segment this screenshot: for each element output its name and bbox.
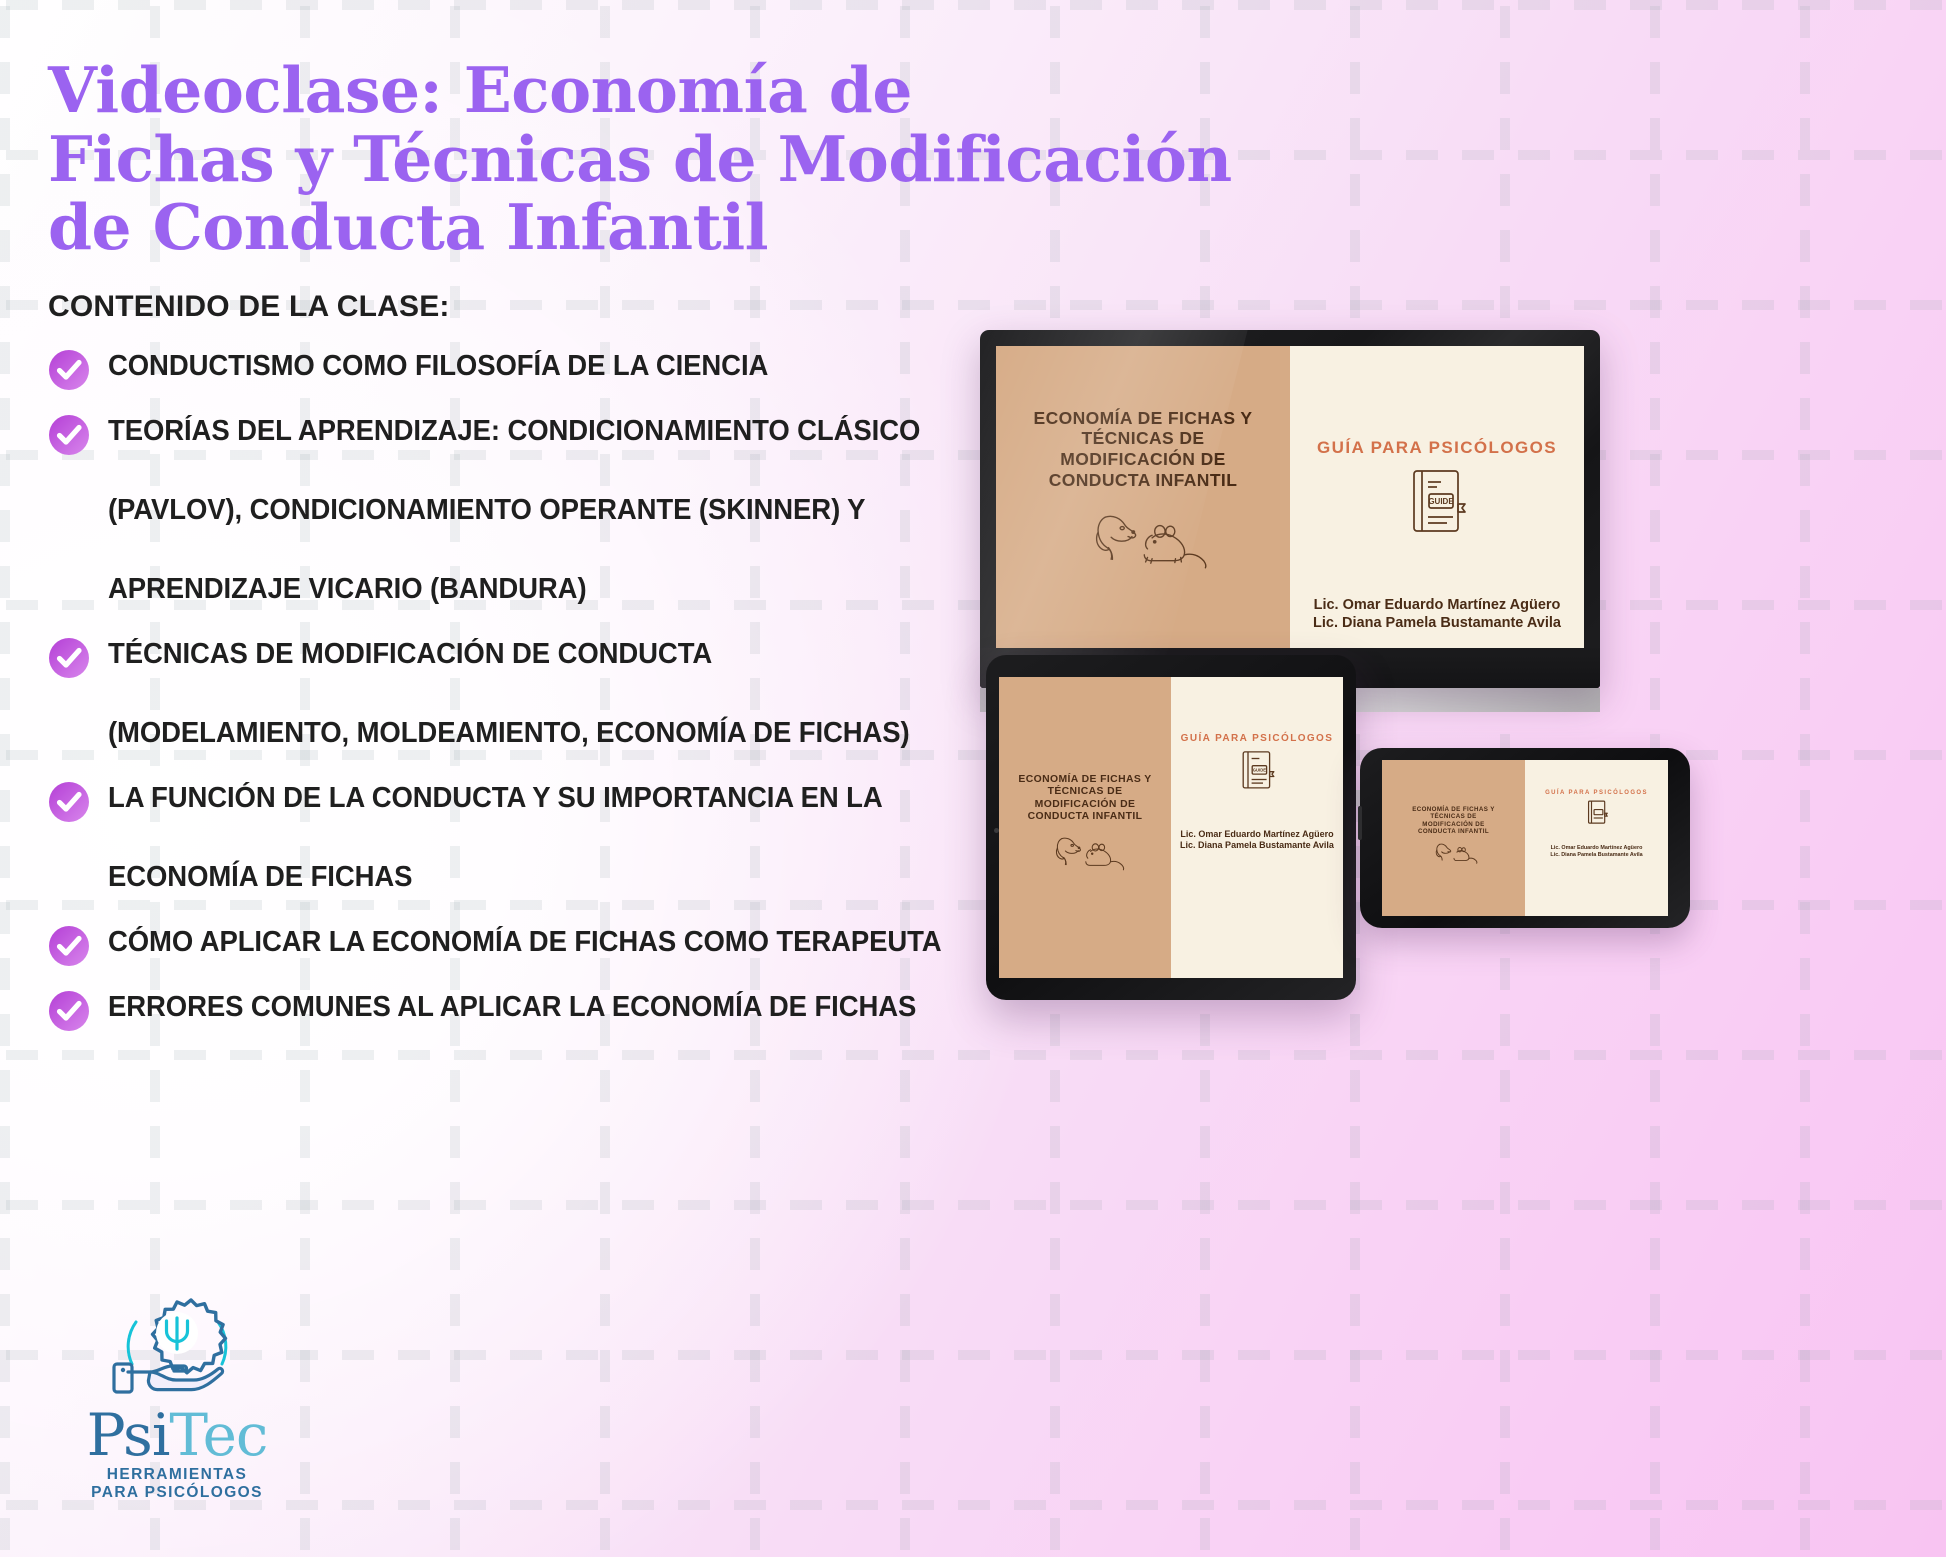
cover-left-panel: ECONOMÍA DE FICHAS Y TÉCNICAS DE MODIFIC… [996,346,1290,648]
page-title: Videoclase: Economía de Fichas y Técnica… [48,56,1278,262]
logo-word-secondary: Tec [169,1401,267,1469]
smartphone-mockup: ECONOMÍA DE FICHAS Y TÉCNICAS DE MODIFIC… [1360,748,1690,928]
guide-book-icon: GUIDE [1239,750,1275,791]
list-item: TÉCNICAS DE MODIFICACIÓN DE CONDUCTA (MO… [48,634,1048,773]
cover-right-panel: GUÍA PARA PSICÓLOGOS [1290,346,1584,648]
cover-subtitle: GUÍA PARA PSICÓLOGOS [1317,438,1557,458]
tablet-camera-icon [994,828,999,833]
logo-tagline: HERRAMIENTAS PARA PSICÓLOGOS [62,1466,292,1503]
list-item: ERRORES COMUNES AL APLICAR LA ECONOMÍA D… [48,987,1048,1047]
dog-and-mouse-illustration [1068,508,1218,586]
list-item-label: LA FUNCIÓN DE LA CONDUCTA Y SU IMPORTANC… [108,759,883,917]
cover-authors: Lic. Omar Eduardo Martínez Agüero Lic. D… [1313,596,1561,632]
monitor-bezel: ECONOMÍA DE FICHAS Y TÉCNICAS DE MODIFIC… [980,330,1600,688]
dog-and-mouse-illustration [1040,833,1130,881]
tablet-screen: ECONOMÍA DE FICHAS Y TÉCNICAS DE MODIFIC… [999,677,1343,978]
list-item: TEORÍAS DEL APRENDIZAJE: CONDICIONAMIENT… [48,411,1048,629]
logo-wordmark: PsiTec [62,1406,292,1464]
cover-left-panel: ECONOMÍA DE FICHAS Y TÉCNICAS DE MODIFIC… [1382,760,1525,916]
cover-subtitle: GUÍA PARA PSICÓLOGOS [1181,733,1334,744]
phone-screen: ECONOMÍA DE FICHAS Y TÉCNICAS DE MODIFIC… [1382,760,1668,916]
cover-subtitle: GUÍA PARA PSICÓLOGOS [1545,790,1648,796]
guide-book-icon [1586,800,1608,825]
cover-right-panel: GUÍA PARA PSICÓLOGOS Lic. Omar Eduardo M… [1525,760,1668,916]
cover-artwork: ECONOMÍA DE FICHAS Y TÉCNICAS DE MODIFIC… [996,346,1584,648]
check-circle-icon [48,925,90,967]
cover-authors: Lic. Omar Eduardo Martínez Agüero Lic. D… [1180,829,1334,852]
cover-right-panel: GUÍA PARA PSICÓLOGOS GUIDE [1171,677,1343,978]
check-circle-icon [48,990,90,1032]
monitor-screen: ECONOMÍA DE FICHAS Y TÉCNICAS DE MODIFIC… [996,346,1584,648]
device-mockup-group: ECONOMÍA DE FICHAS Y TÉCNICAS DE MODIFIC… [960,300,1946,1200]
list-item-label: ERRORES COMUNES AL APLICAR LA ECONOMÍA D… [108,968,916,1047]
cover-artwork: ECONOMÍA DE FICHAS Y TÉCNICAS DE MODIFIC… [999,677,1343,978]
check-circle-icon [48,637,90,679]
cover-left-panel: ECONOMÍA DE FICHAS Y TÉCNICAS DE MODIFIC… [999,677,1171,978]
guide-book-label: GUIDE [1253,768,1266,773]
dog-and-mouse-illustration [1426,841,1481,870]
list-item-label: TÉCNICAS DE MODIFICACIÓN DE CONDUCTA (MO… [108,615,910,773]
guide-book-icon: GUIDE [1407,468,1467,536]
list-item-label: TEORÍAS DEL APRENDIZAJE: CONDICIONAMIENT… [108,392,920,629]
psitec-logo: PsiTec HERRAMIENTAS PARA PSICÓLOGOS [62,1292,292,1503]
tablet-mockup: ECONOMÍA DE FICHAS Y TÉCNICAS DE MODIFIC… [986,655,1356,1000]
check-circle-icon [48,414,90,456]
logo-word-primary: Psi [87,1401,170,1469]
check-circle-icon [48,349,90,391]
cover-authors: Lic. Omar Eduardo Martínez Agüero Lic. D… [1550,845,1642,859]
list-item: LA FUNCIÓN DE LA CONDUCTA Y SU IMPORTANC… [48,778,1048,917]
cover-title: ECONOMÍA DE FICHAS Y TÉCNICAS DE MODIFIC… [1034,408,1253,491]
check-circle-icon [48,781,90,823]
gear-psi-in-hand-icon [108,1292,246,1404]
phone-side-button [1358,806,1362,840]
cover-artwork: ECONOMÍA DE FICHAS Y TÉCNICAS DE MODIFIC… [1382,760,1668,916]
class-contents-list: CONDUCTISMO COMO FILOSOFÍA DE LA CIENCIA… [48,346,1048,1047]
cover-title: ECONOMÍA DE FICHAS Y TÉCNICAS DE MODIFIC… [1412,806,1495,835]
cover-title: ECONOMÍA DE FICHAS Y TÉCNICAS DE MODIFIC… [1018,774,1151,823]
guide-book-label: GUIDE [1428,497,1454,506]
